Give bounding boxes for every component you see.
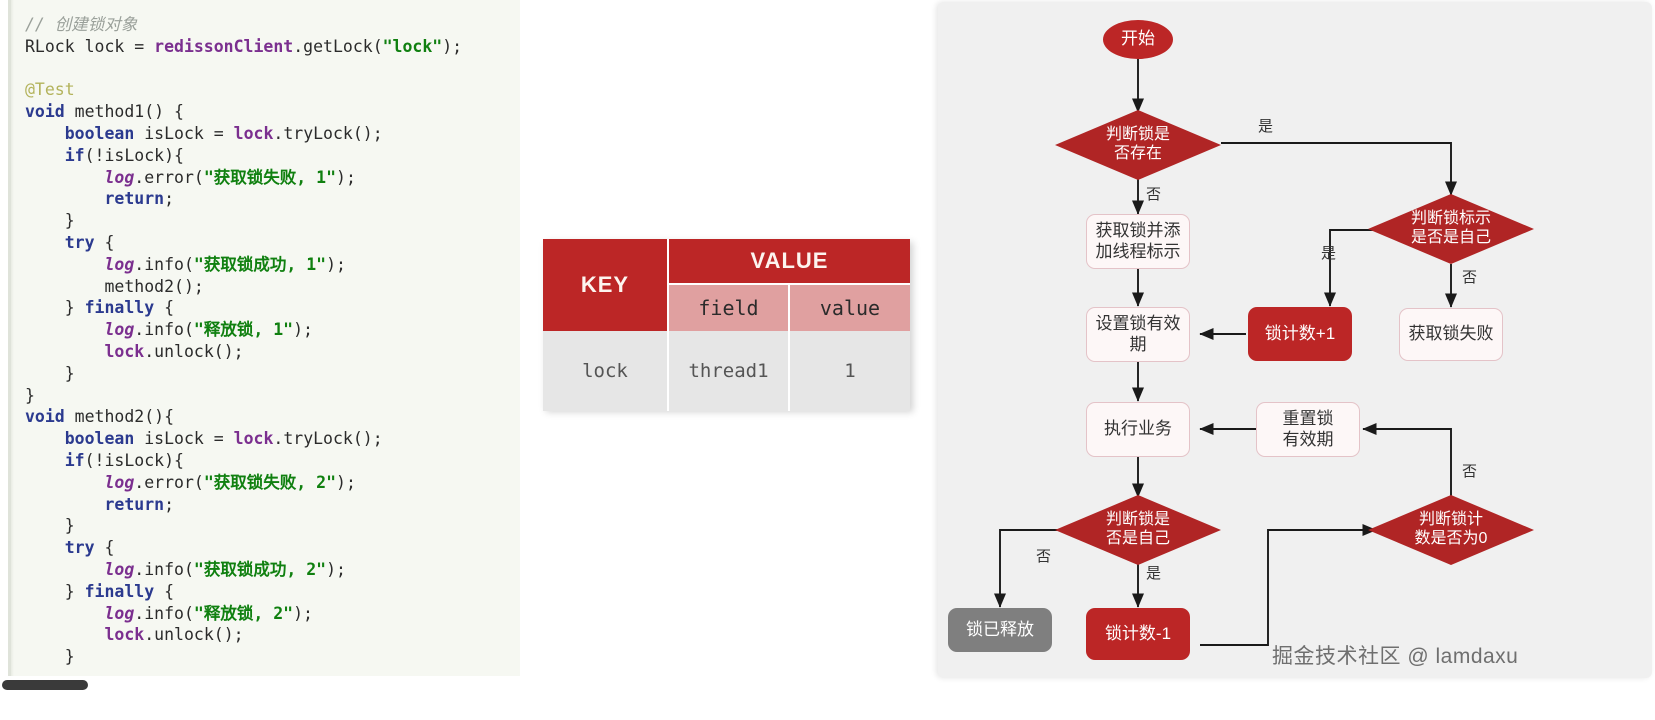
edge-label-flag-no: 否 xyxy=(1462,266,1477,287)
flow-node-execute-business: 执行业务 xyxy=(1086,402,1190,457)
flow-node-check-lock-is-self-label: 判断锁是否是自己 xyxy=(1055,495,1221,565)
code-token: void xyxy=(25,102,65,121)
code-token: (!isLock){ xyxy=(85,146,184,165)
code-token: "获取锁成功, 2" xyxy=(194,560,326,579)
code-line: // 创建锁对象 xyxy=(25,14,520,36)
edge-label-exists-no: 否 xyxy=(1146,183,1161,204)
code-line: } xyxy=(25,515,520,537)
flow-node-acquire-lock: 获取锁并添加线程标示 xyxy=(1086,214,1190,269)
code-token: log xyxy=(104,255,134,274)
scrollbar-thumb[interactable] xyxy=(2,680,88,690)
code-line: log.error("获取锁失败, 1"); xyxy=(25,167,520,189)
code-token: finally xyxy=(85,582,155,601)
code-token: "lock" xyxy=(383,37,443,56)
header-value: VALUE xyxy=(668,239,910,284)
code-token: lock xyxy=(234,429,274,448)
code-token: ); xyxy=(336,473,356,492)
code-token: isLock = xyxy=(134,429,233,448)
code-line: lock.unlock(); xyxy=(25,624,520,646)
code-token: { xyxy=(154,582,174,601)
code-token: "释放锁, 2" xyxy=(194,604,293,623)
flow-node-reset-expiry: 重置锁有效期 xyxy=(1256,402,1360,457)
code-line: } xyxy=(25,385,520,407)
subheader-field: field xyxy=(668,284,789,331)
code-token: log xyxy=(104,604,134,623)
code-line: } xyxy=(25,363,520,385)
code-token: } xyxy=(25,211,75,230)
edge-label-zero-no: 否 xyxy=(1462,460,1477,481)
code-token: ); xyxy=(442,37,462,56)
code-token: "获取锁成功, 1" xyxy=(194,255,326,274)
code-token: ); xyxy=(336,168,356,187)
code-token xyxy=(25,604,104,623)
code-token xyxy=(25,320,104,339)
code-token xyxy=(25,124,65,143)
code-token xyxy=(25,451,65,470)
code-token: redissonClient xyxy=(154,37,293,56)
code-line: boolean isLock = lock.tryLock(); xyxy=(25,123,520,145)
flow-node-check-lock-exists-label: 判断锁是否存在 xyxy=(1055,110,1221,180)
code-line: if(!isLock){ xyxy=(25,145,520,167)
code-token xyxy=(25,429,65,448)
code-line: try { xyxy=(25,537,520,559)
code-token: return xyxy=(104,189,164,208)
code-horizontal-scrollbar[interactable] xyxy=(0,678,520,692)
code-line: lock.unlock(); xyxy=(25,341,520,363)
code-token: (!isLock){ xyxy=(85,451,184,470)
flow-node-lock-released: 锁已释放 xyxy=(948,608,1052,652)
table-header-row: KEY VALUE xyxy=(543,239,910,284)
code-token: ); xyxy=(326,560,346,579)
table-row: lock thread1 1 xyxy=(543,331,910,411)
flow-node-check-flag-is-self-label: 判断锁标示是否是自己 xyxy=(1368,194,1534,264)
code-token: boolean xyxy=(65,124,135,143)
edge-label-self-no: 否 xyxy=(1036,545,1051,566)
subheader-value: value xyxy=(789,284,910,331)
code-token: .info( xyxy=(134,320,194,339)
watermark-text: 掘金技术社区 @ lamdaxu xyxy=(1272,640,1518,670)
code-line: @Test xyxy=(25,79,520,101)
code-token: finally xyxy=(85,298,155,317)
code-token xyxy=(25,255,104,274)
code-token xyxy=(25,146,65,165)
code-line: boolean isLock = lock.tryLock(); xyxy=(25,428,520,450)
code-token: .tryLock(); xyxy=(273,124,382,143)
cell-value: 1 xyxy=(789,331,910,411)
code-token: ; xyxy=(164,189,174,208)
code-editor-panel[interactable]: // 创建锁对象RLock lock = redissonClient.getL… xyxy=(8,0,520,676)
code-token: } xyxy=(25,386,35,405)
code-token: if xyxy=(65,451,85,470)
flow-node-check-lock-is-self: 判断锁是否是自己 xyxy=(1055,495,1221,565)
code-line: void method2(){ xyxy=(25,406,520,428)
code-token: .info( xyxy=(134,560,194,579)
code-token: .error( xyxy=(134,168,204,187)
edge-label-exists-yes: 是 xyxy=(1258,115,1273,136)
code-token: .info( xyxy=(134,255,194,274)
code-line: log.info("获取锁成功, 1"); xyxy=(25,254,520,276)
redis-hash-table: KEY VALUE field value lock thread1 1 xyxy=(543,239,910,409)
code-token: log xyxy=(104,473,134,492)
code-token: @Test xyxy=(25,80,75,99)
code-line: RLock lock = redissonClient.getLock("loc… xyxy=(25,36,520,58)
flow-node-lock-count-plus: 锁计数+1 xyxy=(1248,307,1352,361)
screenshot-root: // 创建锁对象RLock lock = redissonClient.getL… xyxy=(0,0,1655,720)
code-token: } xyxy=(25,516,75,535)
code-token xyxy=(25,168,104,187)
code-line: } finally { xyxy=(25,581,520,603)
code-token: lock xyxy=(234,124,274,143)
code-token: void xyxy=(25,407,65,426)
code-line: } finally { xyxy=(25,297,520,319)
code-token xyxy=(25,538,65,557)
code-token: "获取锁失败, 1" xyxy=(204,168,336,187)
code-line: log.info("释放锁, 2"); xyxy=(25,603,520,625)
code-line: } xyxy=(25,646,520,668)
code-line: log.info("获取锁成功, 2"); xyxy=(25,559,520,581)
code-token: // 创建锁对象 xyxy=(25,15,137,34)
flow-node-check-count-zero-label: 判断锁计数是否为0 xyxy=(1368,495,1534,565)
code-token xyxy=(25,625,104,644)
code-token xyxy=(25,560,104,579)
code-token: } xyxy=(25,364,75,383)
code-token: lock xyxy=(104,625,144,644)
code-token: log xyxy=(104,560,134,579)
code-token: .unlock(); xyxy=(144,342,243,361)
code-token xyxy=(25,233,65,252)
code-line: log.error("获取锁失败, 2"); xyxy=(25,472,520,494)
code-token: try xyxy=(65,538,95,557)
cell-field: thread1 xyxy=(668,331,789,411)
code-token: log xyxy=(104,320,134,339)
edge-label-flag-yes: 是 xyxy=(1321,242,1336,263)
code-token: method2(){ xyxy=(65,407,174,426)
code-token: ; xyxy=(164,495,174,514)
flow-node-lock-count-minus: 锁计数-1 xyxy=(1086,608,1190,660)
code-token xyxy=(25,473,104,492)
code-token: ); xyxy=(293,320,313,339)
code-token xyxy=(25,342,104,361)
flow-node-check-lock-exists: 判断锁是否存在 xyxy=(1055,110,1221,180)
cell-key: lock xyxy=(543,331,668,411)
code-line: log.info("释放锁, 1"); xyxy=(25,319,520,341)
code-token: log xyxy=(104,168,134,187)
code-line: } xyxy=(25,210,520,232)
code-token: ); xyxy=(293,604,313,623)
code-line: try { xyxy=(25,232,520,254)
code-token: method2(); xyxy=(25,277,204,296)
code-listing: // 创建锁对象RLock lock = redissonClient.getL… xyxy=(25,14,520,668)
code-line: if(!isLock){ xyxy=(25,450,520,472)
code-token xyxy=(25,495,104,514)
code-line: method2(); xyxy=(25,276,520,298)
code-token xyxy=(25,189,104,208)
flow-node-acquire-failed: 获取锁失败 xyxy=(1399,308,1503,361)
code-line: void method1() { xyxy=(25,101,520,123)
code-token: .getLock( xyxy=(293,37,382,56)
flow-node-set-expiry: 设置锁有效期 xyxy=(1086,307,1190,362)
code-token: .unlock(); xyxy=(144,625,243,644)
code-token: { xyxy=(95,538,115,557)
code-token: } xyxy=(25,582,85,601)
flow-node-start: 开始 xyxy=(1103,20,1173,59)
code-token: .error( xyxy=(134,473,204,492)
code-line: return; xyxy=(25,188,520,210)
code-token: } xyxy=(25,647,75,666)
edge-label-self-yes: 是 xyxy=(1146,562,1161,583)
code-token: } xyxy=(25,298,85,317)
kv-table-element: KEY VALUE field value lock thread1 1 xyxy=(543,239,910,411)
code-line xyxy=(25,58,520,80)
code-token: isLock = xyxy=(134,124,233,143)
code-token: method1() { xyxy=(65,102,184,121)
code-token: "获取锁失败, 2" xyxy=(204,473,336,492)
code-token: if xyxy=(65,146,85,165)
code-token: return xyxy=(104,495,164,514)
code-token: { xyxy=(154,298,174,317)
flow-node-check-count-zero: 判断锁计数是否为0 xyxy=(1368,495,1534,565)
header-key: KEY xyxy=(543,239,668,331)
code-token: RLock lock = xyxy=(25,37,154,56)
code-token: try xyxy=(65,233,95,252)
code-token: { xyxy=(95,233,115,252)
code-token: lock xyxy=(104,342,144,361)
flowchart-panel: 开始 判断锁是否存在 获取锁并添加线程标示 设置锁有效期 执行业务 判断锁标示是… xyxy=(938,2,1652,678)
code-line: return; xyxy=(25,494,520,516)
flow-node-check-flag-is-self: 判断锁标示是否是自己 xyxy=(1368,194,1534,264)
code-token: boolean xyxy=(65,429,135,448)
code-token: .tryLock(); xyxy=(273,429,382,448)
code-token: "释放锁, 1" xyxy=(194,320,293,339)
code-token: .info( xyxy=(134,604,194,623)
code-token: ); xyxy=(326,255,346,274)
